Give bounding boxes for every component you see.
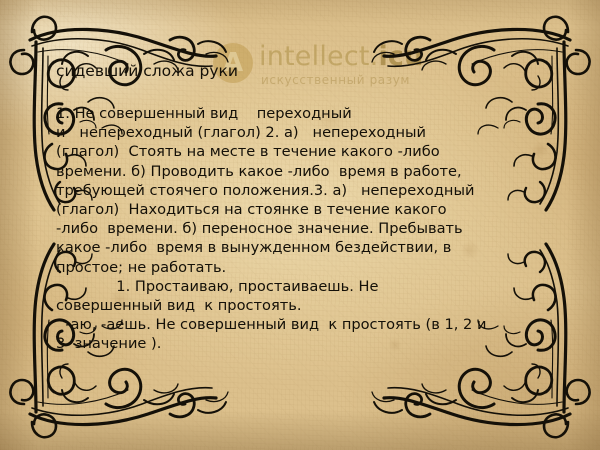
- body-line: времени. б) Проводить какое -либо время …: [56, 162, 556, 181]
- body-line: и непереходный (глагол) 2. а) непереходн…: [56, 123, 556, 142]
- body-line: -аю, -аешь. Не совершенный вид к простоя…: [56, 315, 556, 334]
- body-line: 1. Не совершенный вид переходный: [56, 104, 556, 123]
- body-line: требующей стоячего положения.3. а) непер…: [56, 181, 556, 200]
- body-line: 3 значение ).: [56, 334, 556, 353]
- body-line: совершенный вид к простоять.: [56, 296, 556, 315]
- definition-body: 1. Не совершенный вид переходный и непер…: [56, 104, 556, 354]
- document-page: A intellect.icu искусственный разум: [0, 0, 600, 450]
- body-line: (глагол) Находиться на стоянке в течение…: [56, 200, 556, 219]
- body-line: (глагол) Стоять на месте в течение каког…: [56, 142, 556, 161]
- body-line: -либо времени. б) переносное значение. П…: [56, 219, 556, 238]
- body-line: 1. Простаиваю, простаиваешь. Не: [56, 277, 556, 296]
- heading-phrase: сидевший сложа руки: [56, 62, 556, 81]
- body-line: какое -либо время в вынужденном бездейст…: [56, 238, 556, 257]
- body-line: простое; не работать.: [56, 258, 556, 277]
- document-text: сидевший сложа руки 1. Не совершенный ви…: [56, 62, 556, 354]
